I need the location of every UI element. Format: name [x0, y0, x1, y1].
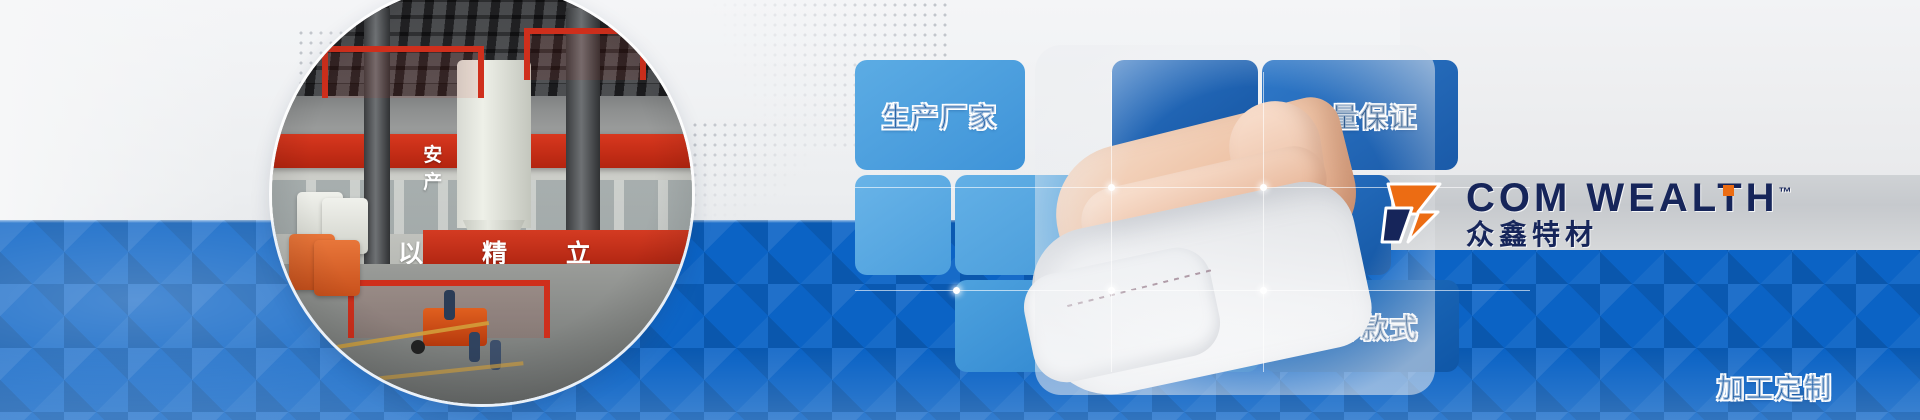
logo-english-name: COM WEALTH™	[1466, 178, 1792, 218]
tile-custom-label: 加工定制	[1717, 367, 1833, 406]
tile-styles-label: 多种款式	[1303, 307, 1419, 346]
logo-orange-accent	[1723, 185, 1734, 196]
background-top-right-plate	[1400, 0, 1920, 176]
tile-manufacturer[interactable]: 生产厂家	[855, 60, 1025, 170]
company-promo-banner: 安 全 生 产 以 精 立 业 生产厂家 质量保证 加工定制	[0, 0, 1920, 420]
photo-vignette	[272, 0, 692, 404]
tile-quality[interactable]	[1112, 60, 1258, 170]
tile-own-factory[interactable]: 自有工厂	[955, 280, 1105, 372]
tile-styles[interactable]: 多种款式	[1263, 280, 1459, 372]
trademark-icon: ™	[1779, 184, 1792, 199]
logo-chinese-name: 众鑫特材	[1466, 221, 1792, 249]
tile-bottom-b[interactable]	[1109, 280, 1259, 372]
tile-manufacturer-label: 生产厂家	[882, 96, 998, 135]
tile-mid-d[interactable]	[1263, 175, 1391, 275]
tile-custom[interactable]: 加工定制	[855, 175, 951, 275]
tile-custom-b[interactable]	[955, 175, 1105, 275]
background-left-fade	[0, 0, 240, 220]
tile-quality-wide[interactable]: 质量保证	[1262, 60, 1458, 170]
logo-mark-icon	[1378, 178, 1452, 248]
halftone-dots-mid-right	[690, 120, 850, 250]
factory-interior-photo: 安 全 生 产 以 精 立 业	[272, 0, 692, 404]
logo-text-block: COM WEALTH™ 众鑫特材	[1466, 178, 1792, 249]
logo-english-text: COM WEALTH	[1466, 176, 1779, 220]
tile-quality-label: 质量保证	[1302, 96, 1418, 135]
com-wealth-logo[interactable]: COM WEALTH™ 众鑫特材	[1378, 176, 1792, 250]
tile-mid-c[interactable]	[1109, 175, 1259, 275]
